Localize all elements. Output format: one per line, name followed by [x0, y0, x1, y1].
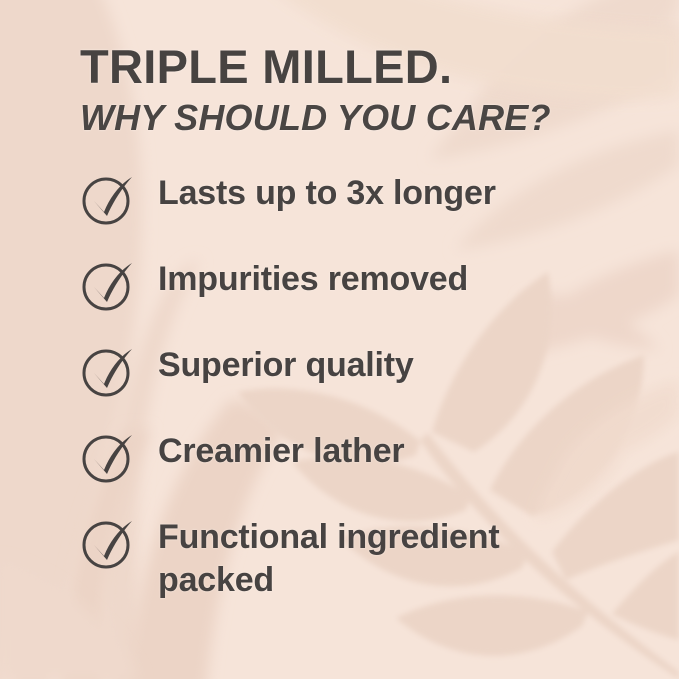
list-item: Functional ingredient packed [80, 513, 679, 602]
list-item-label: Functional ingredient packed [158, 513, 588, 602]
page-subtitle: WHY SHOULD YOU CARE? [80, 99, 679, 137]
page-title: TRIPLE MILLED. [80, 0, 679, 91]
check-circle-icon [80, 171, 136, 227]
benefit-list: Lasts up to 3x longer Impurities removed [80, 137, 679, 602]
list-item: Superior quality [80, 341, 679, 427]
list-item-label: Creamier lather [158, 427, 404, 473]
list-item: Lasts up to 3x longer [80, 169, 679, 255]
check-circle-icon [80, 515, 136, 571]
check-circle-icon [80, 343, 136, 399]
list-item: Impurities removed [80, 255, 679, 341]
list-item-label: Lasts up to 3x longer [158, 169, 496, 215]
check-circle-icon [80, 429, 136, 485]
promo-graphic: TRIPLE MILLED. WHY SHOULD YOU CARE? Last… [0, 0, 679, 679]
list-item-label: Impurities removed [158, 255, 468, 301]
check-circle-icon [80, 257, 136, 313]
content-area: TRIPLE MILLED. WHY SHOULD YOU CARE? Last… [0, 0, 679, 602]
list-item-label: Superior quality [158, 341, 414, 387]
list-item: Creamier lather [80, 427, 679, 513]
